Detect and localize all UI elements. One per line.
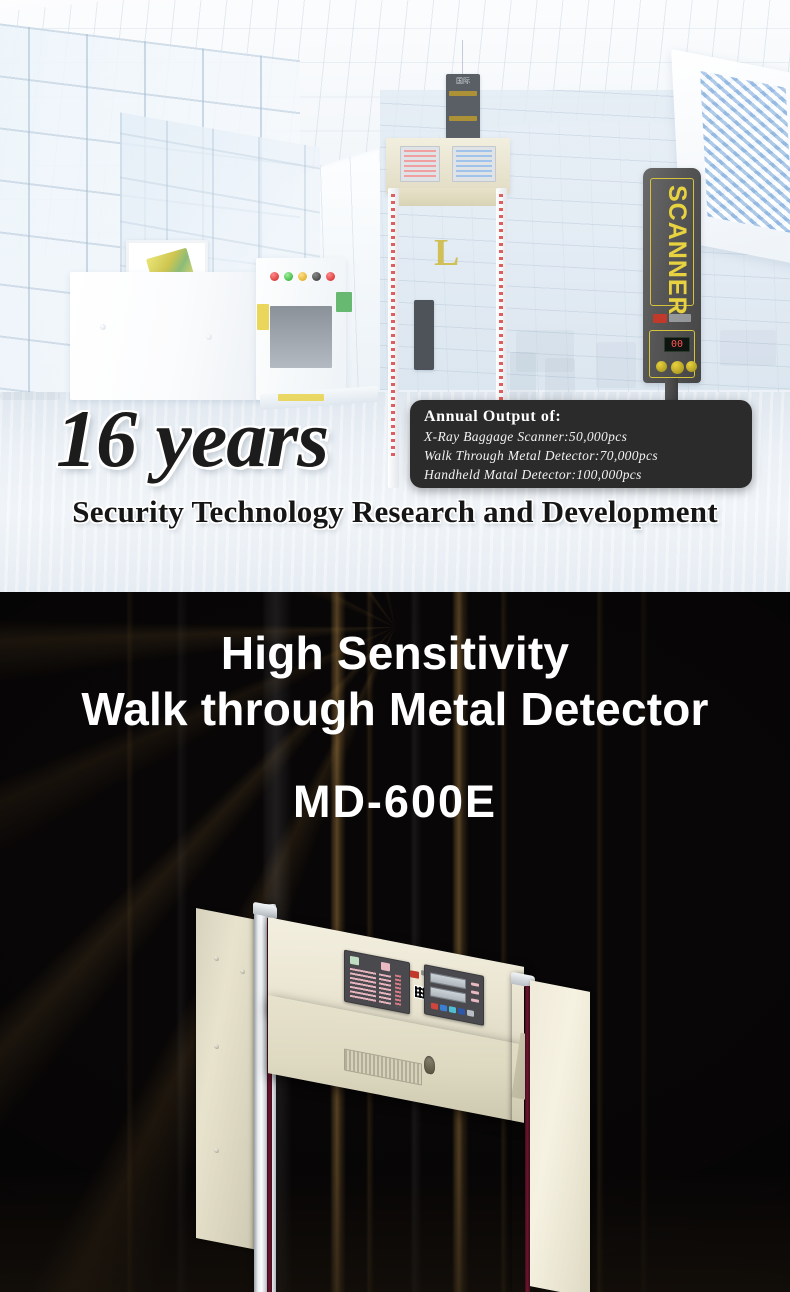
handheld-brand-text: [669, 314, 691, 322]
panel-fastener: [214, 1043, 219, 1049]
hanging-sign-text: 国际: [446, 74, 480, 89]
lcd-display-line-2: [430, 986, 466, 1003]
led-column-left: [350, 968, 376, 1003]
gate-led-array-left: [404, 150, 436, 178]
product-headline-line-2: Walk through Metal Detector: [0, 681, 790, 737]
walk-through-metal-detector-product: [196, 898, 600, 1292]
background-equipment: [596, 342, 636, 388]
led-column-mid: [379, 973, 391, 1005]
lcd-side-led-3: [471, 998, 479, 1003]
scanner-cabinet: [70, 272, 260, 400]
annual-output-title: Annual Output of:: [424, 407, 740, 427]
gate-post-left: [388, 188, 399, 488]
handheld-control-area: 00: [649, 330, 695, 378]
handheld-knob-right: [686, 361, 697, 372]
gate-pillar-cap-left: [253, 902, 277, 919]
annual-output-line-3: Handheld Matal Detector:100,000pcs: [424, 465, 740, 484]
product-headline-line-1: High Sensitivity: [0, 625, 790, 681]
years-headline: 16 years: [56, 398, 328, 480]
led-bargraph: [395, 974, 401, 1007]
product-headline: High Sensitivity Walk through Metal Dete…: [0, 625, 790, 737]
keypad-button-cyan[interactable]: [449, 1006, 456, 1013]
bottom-product-section: High Sensitivity Walk through Metal Dete…: [0, 592, 790, 1292]
indicator-lamp-yellow: [298, 272, 307, 281]
warning-label-yellow: [257, 304, 269, 330]
indicator-lamp-red-2: [326, 272, 335, 281]
keypad-button-navy[interactable]: [458, 1008, 465, 1015]
product-banner-page: 国际: [0, 0, 790, 1292]
handheld-display-value: 00: [665, 338, 689, 352]
lcd-side-led-2: [471, 990, 479, 995]
scanner-tunnel-opening: [270, 306, 332, 368]
keypad-button-grey[interactable]: [467, 1010, 474, 1017]
background-equipment: [516, 330, 574, 372]
gate-background-letter: L: [434, 234, 460, 274]
background-barrier: [0, 392, 60, 400]
xray-baggage-scanner: [60, 240, 370, 410]
gate-panel-left: [196, 908, 258, 1250]
product-model-number: MD-600E: [0, 776, 790, 828]
gate-control-panel-left: [400, 146, 440, 182]
handheld-display: 00: [664, 337, 690, 352]
gate-header-unit: [386, 138, 510, 194]
brand-logo-mark: [410, 970, 419, 979]
hanging-sign-subtext: [446, 98, 480, 113]
gate-control-panel-right: [452, 146, 496, 182]
handheld-face-plate: SCANNER: [650, 178, 694, 306]
gate-panel-right: [530, 980, 590, 1292]
cabinet-screw: [206, 334, 212, 340]
keypad-buttons[interactable]: [431, 1003, 474, 1017]
cabinet-screw: [100, 324, 106, 330]
handheld-knob-left: [656, 361, 667, 372]
keypad-button-blue[interactable]: [440, 1004, 447, 1011]
indicator-lamp-red: [270, 272, 279, 281]
sign-highlight-bar: [449, 91, 477, 96]
status-led-pink: [381, 962, 390, 972]
company-subtitle: Security Technology Research and Develop…: [16, 496, 774, 529]
scanner-tunnel-housing: [256, 258, 346, 400]
status-led-green: [350, 956, 359, 966]
keypad-button-red[interactable]: [431, 1003, 438, 1010]
sign-highlight-bar-2: [449, 116, 477, 121]
top-banner-airport-scene: 国际: [0, 0, 790, 592]
indicator-lamp-green: [284, 272, 293, 281]
annual-output-line-2: Walk Through Metal Detector:70,000pcs: [424, 446, 740, 465]
handheld-body: SCANNER 00: [643, 168, 701, 383]
handheld-power-button: [671, 361, 684, 374]
gate-led-array-right: [456, 150, 492, 178]
safety-label-green: [336, 292, 352, 312]
panel-fastener: [214, 955, 219, 961]
gate-header-lower-lip: [392, 188, 504, 206]
sign-wire: [462, 40, 463, 76]
display-board-screen: [700, 71, 790, 234]
background-equipment: [720, 330, 776, 366]
lcd-side-led-1: [471, 982, 479, 987]
annual-output-box: Annual Output of: X-Ray Baggage Scanner:…: [410, 400, 752, 488]
handheld-metal-detector: SCANNER 00: [643, 168, 701, 383]
panel-fastener: [240, 969, 245, 975]
scanner-indicator-lamps: [270, 272, 335, 281]
panel-fastener: [214, 1147, 219, 1153]
indicator-lamp-dark: [312, 272, 321, 281]
handheld-scanner-label: SCANNER: [647, 185, 691, 313]
gate-post-led-strip-left: [391, 194, 395, 458]
annual-output-line-1: X-Ray Baggage Scanner:50,000pcs: [424, 427, 740, 446]
handheld-brand-logo: [653, 314, 667, 323]
